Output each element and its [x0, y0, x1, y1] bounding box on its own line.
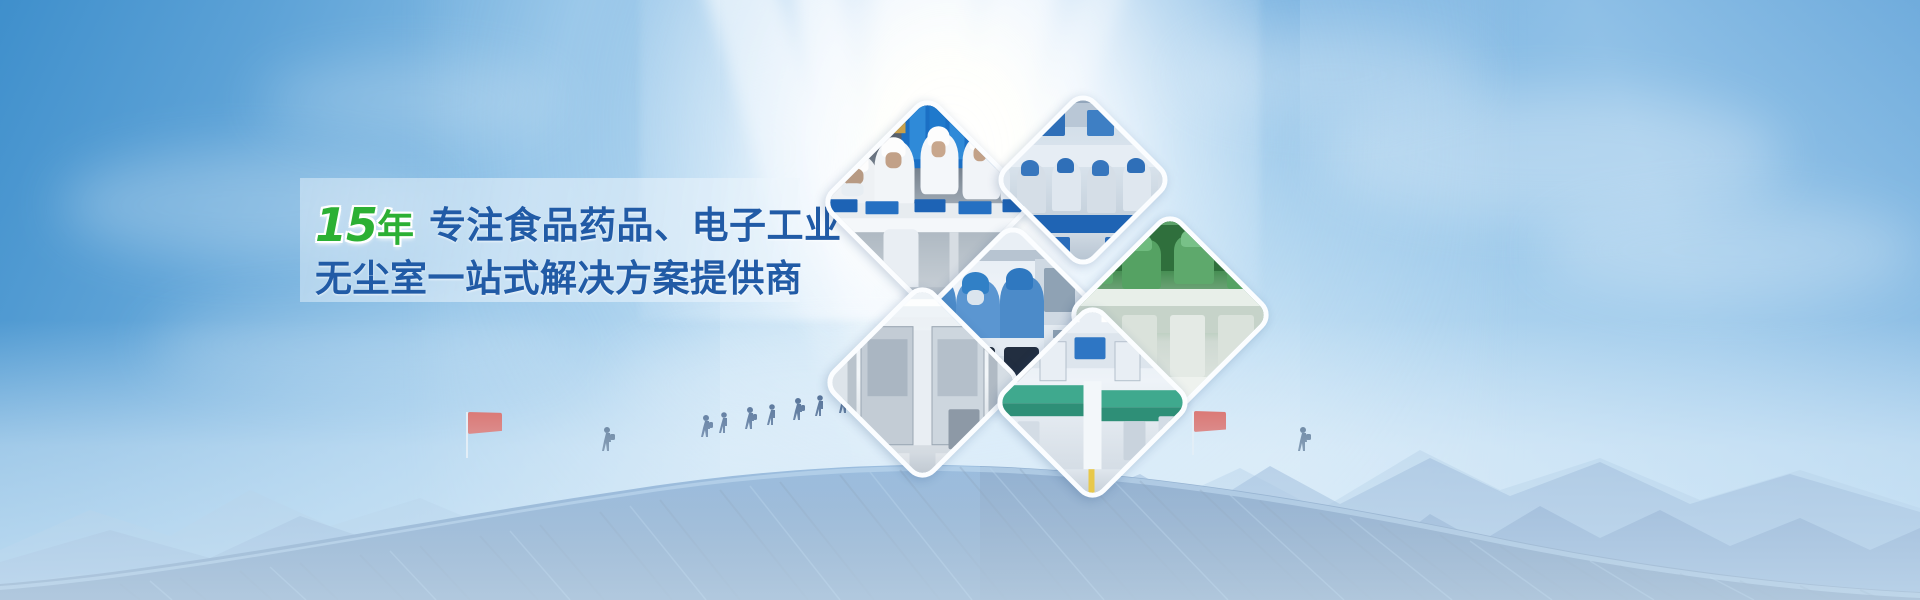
headline-text: 15年 专注食品药品、电子工业 无尘室一站式解决方案提供商: [315, 198, 795, 301]
cloud: [1540, 200, 1920, 300]
years-number: 15年: [315, 198, 429, 252]
cleanroom-photo-collage: [840, 95, 1290, 465]
headline-line1-rest: 专注食品药品、电子工业: [429, 205, 842, 246]
years-unit: 年: [377, 207, 414, 250]
hero-banner: 15年 专注食品药品、电子工业 无尘室一站式解决方案提供商: [0, 0, 1920, 600]
headline-line2: 无尘室一站式解决方案提供商: [315, 258, 803, 299]
cloud: [260, 60, 560, 140]
years-value: 15: [315, 198, 377, 252]
